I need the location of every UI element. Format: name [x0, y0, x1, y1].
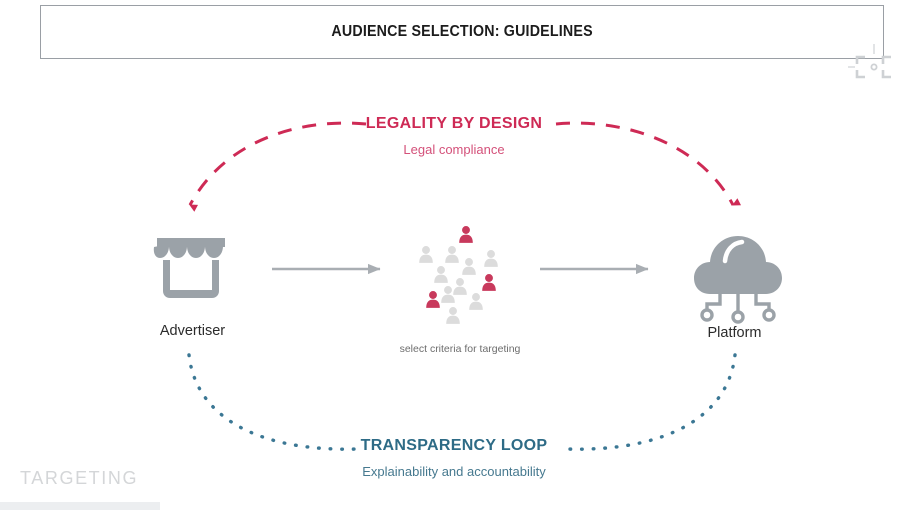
- person-icon: [445, 246, 459, 263]
- person-icon: [419, 246, 433, 263]
- person-icon: [434, 266, 448, 283]
- legality-arc-right: [556, 123, 733, 205]
- title-bar: AUDIENCE SELECTION: GUIDELINES: [40, 5, 884, 59]
- cloud-network-icon[interactable]: [694, 236, 782, 322]
- legality-by-design-subtitle: Legal compliance: [0, 142, 908, 157]
- transparency-arc-right: [566, 355, 735, 449]
- person-icon: [482, 274, 496, 291]
- legality-arc-left: [190, 123, 366, 205]
- footer-section-label: TARGETING: [20, 468, 138, 489]
- page-title: AUDIENCE SELECTION: GUIDELINES: [331, 23, 592, 41]
- focus-crop-marks-icon[interactable]: [848, 44, 900, 90]
- person-icon: [469, 293, 483, 310]
- person-icon: [462, 258, 476, 275]
- person-icon: [453, 278, 467, 295]
- person-icon: [459, 226, 473, 243]
- transparency-arc-left: [189, 355, 358, 449]
- transparency-loop-title: TRANSPARENCY LOOP: [0, 437, 908, 455]
- footer-accent-bar: [0, 502, 160, 510]
- people-cluster-icon[interactable]: [419, 226, 498, 324]
- storefront-icon[interactable]: [154, 238, 225, 298]
- select-criteria-caption: select criteria for targeting: [380, 343, 540, 356]
- audience-selection-diagram: [0, 0, 908, 510]
- advertiser-node-label: Advertiser: [95, 323, 290, 339]
- person-icon: [441, 286, 455, 303]
- person-icon: [426, 291, 440, 308]
- person-icon: [446, 307, 460, 324]
- person-icon: [484, 250, 498, 267]
- legality-by-design-title: LEGALITY BY DESIGN: [0, 115, 908, 133]
- platform-node-label: Platform: [637, 325, 832, 341]
